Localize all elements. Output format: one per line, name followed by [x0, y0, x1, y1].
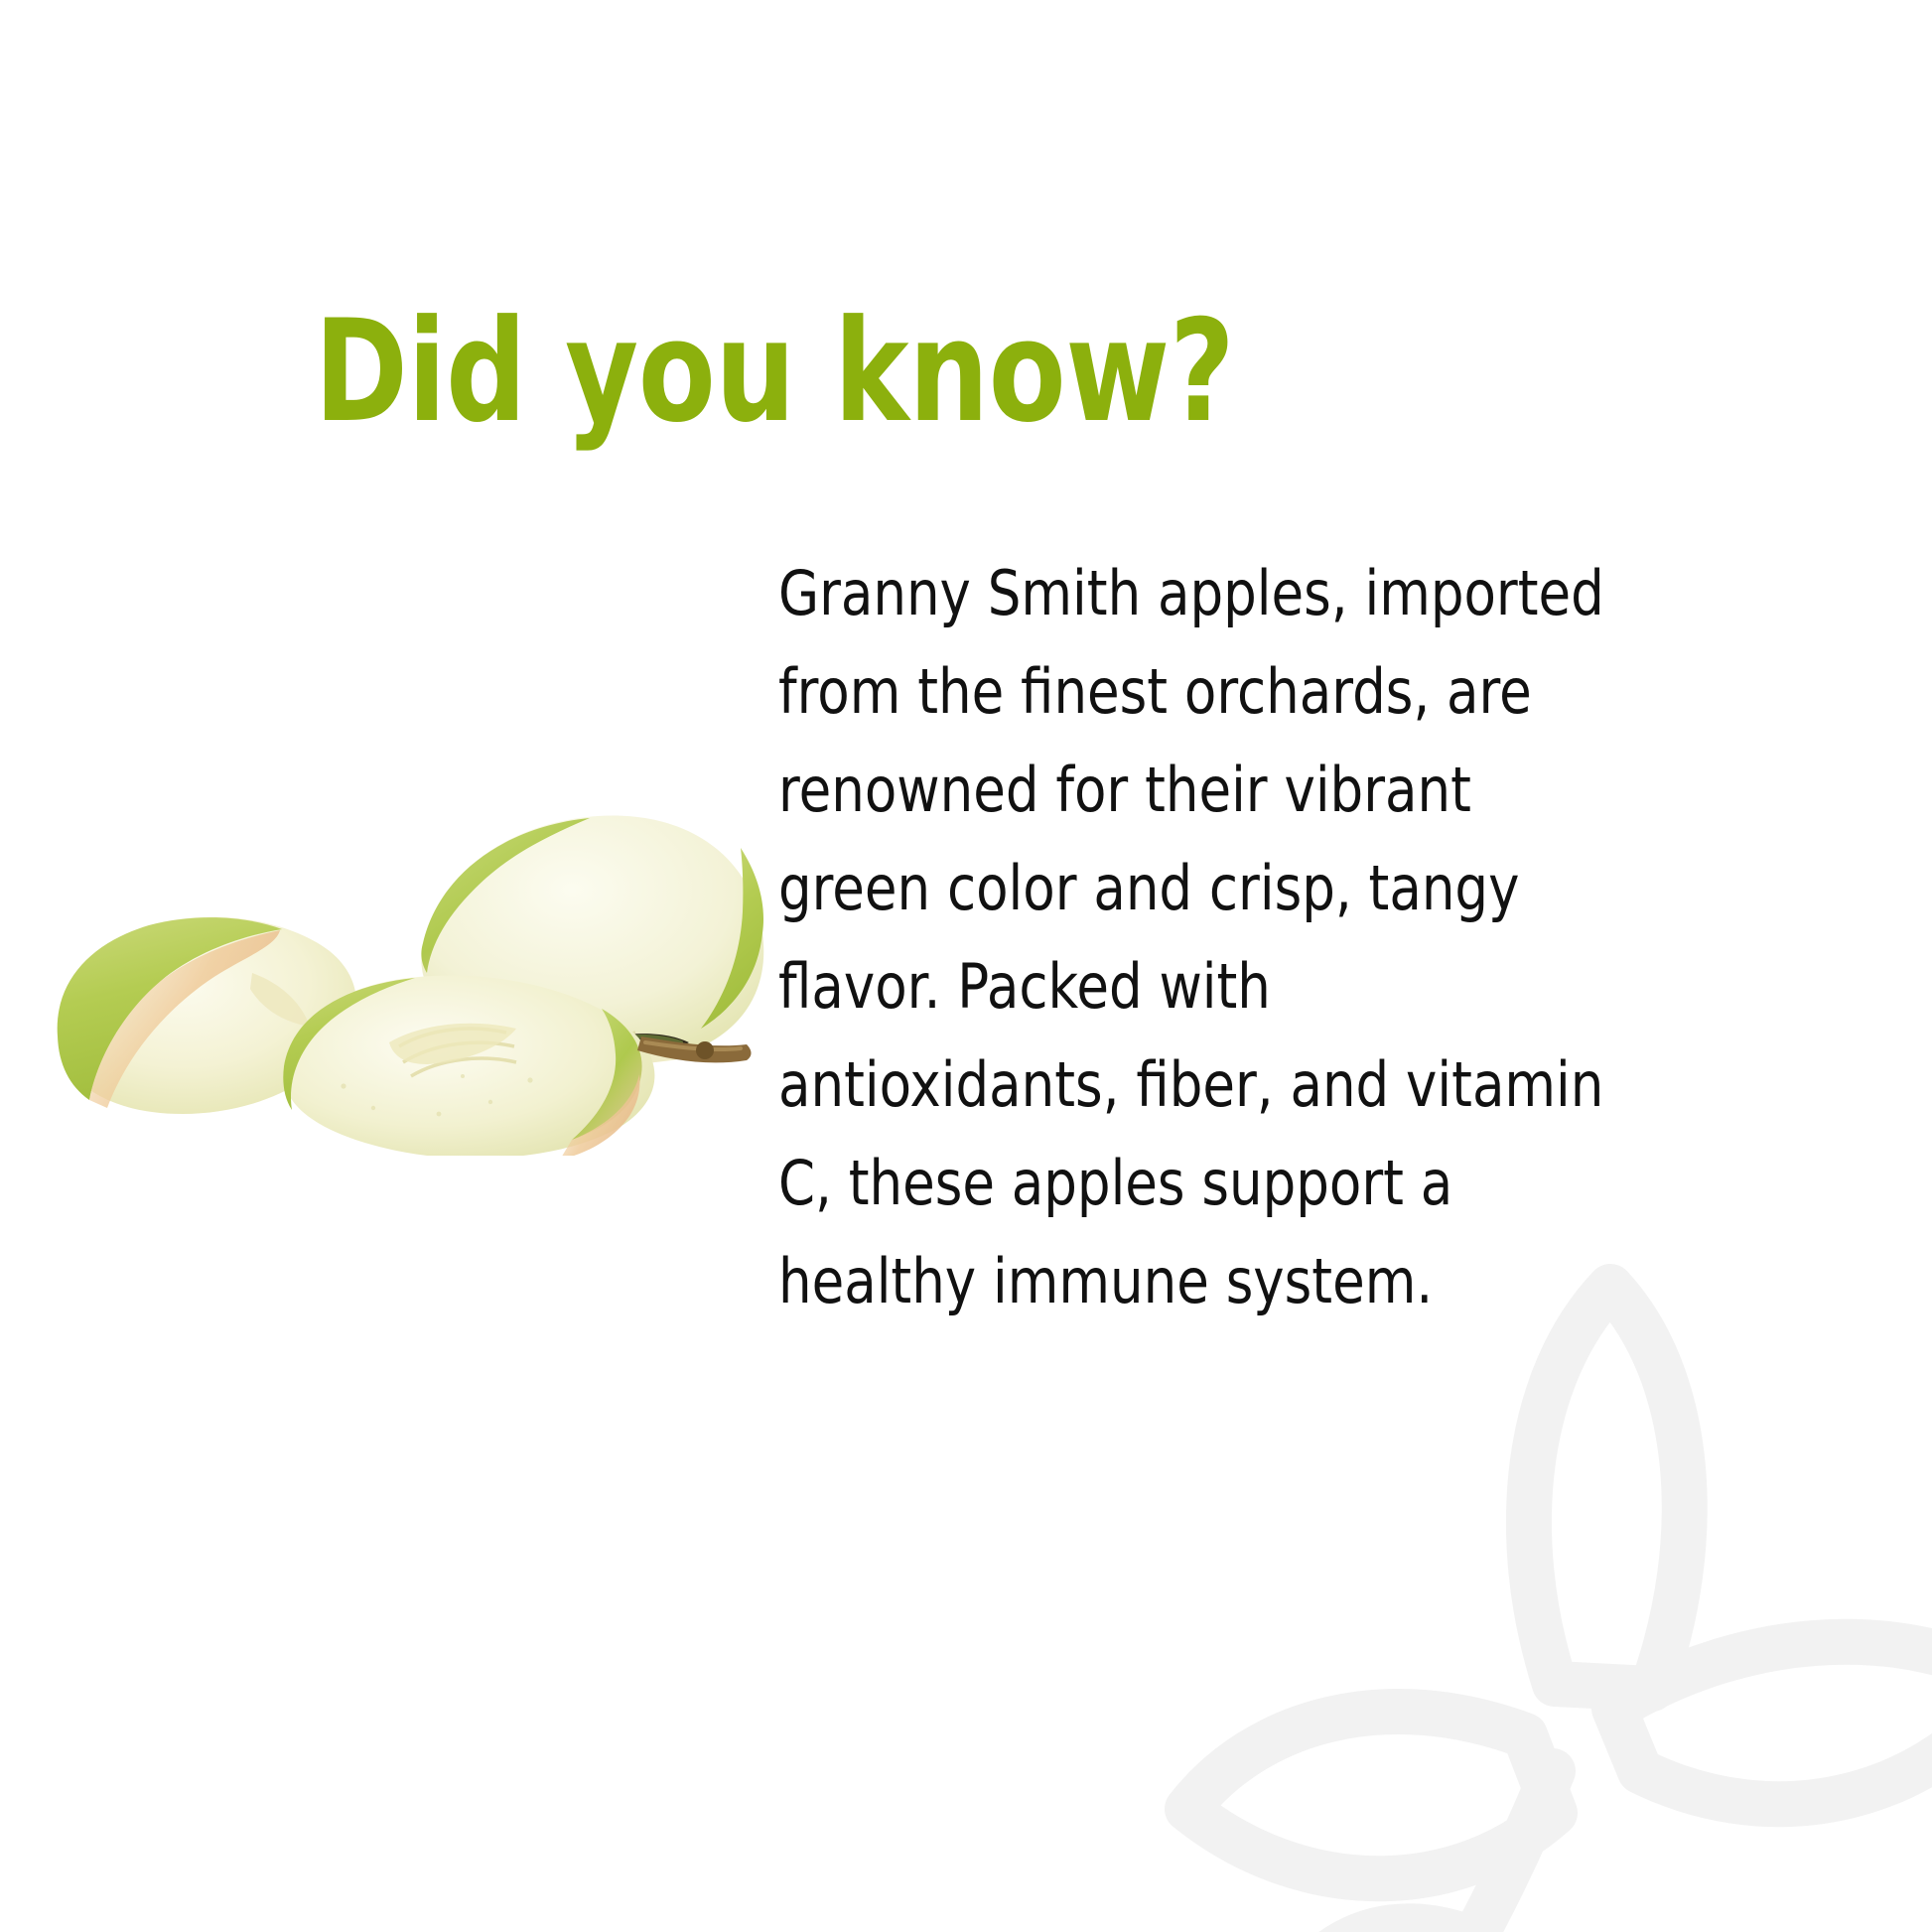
apple-photo [46, 739, 766, 1156]
body-line: antioxidants, fiber, and vitamin [778, 1035, 1398, 1134]
poster-canvas: Did you know? [0, 0, 1932, 1932]
body-line: Granny Smith apples, imported [778, 544, 1398, 642]
body-line: healthy immune system. [778, 1232, 1398, 1330]
body-line: flavor. Packed with [778, 937, 1398, 1035]
body-paragraph: Granny Smith apples, imported from the f… [778, 544, 1503, 1330]
page-title: Did you know? [155, 301, 1394, 445]
body-line: from the finest orchards, are [778, 642, 1398, 741]
body-line: green color and crisp, tangy [778, 839, 1398, 937]
body-line: C, these apples support a [778, 1134, 1398, 1232]
body-line: renowned for their vibrant [778, 741, 1398, 839]
